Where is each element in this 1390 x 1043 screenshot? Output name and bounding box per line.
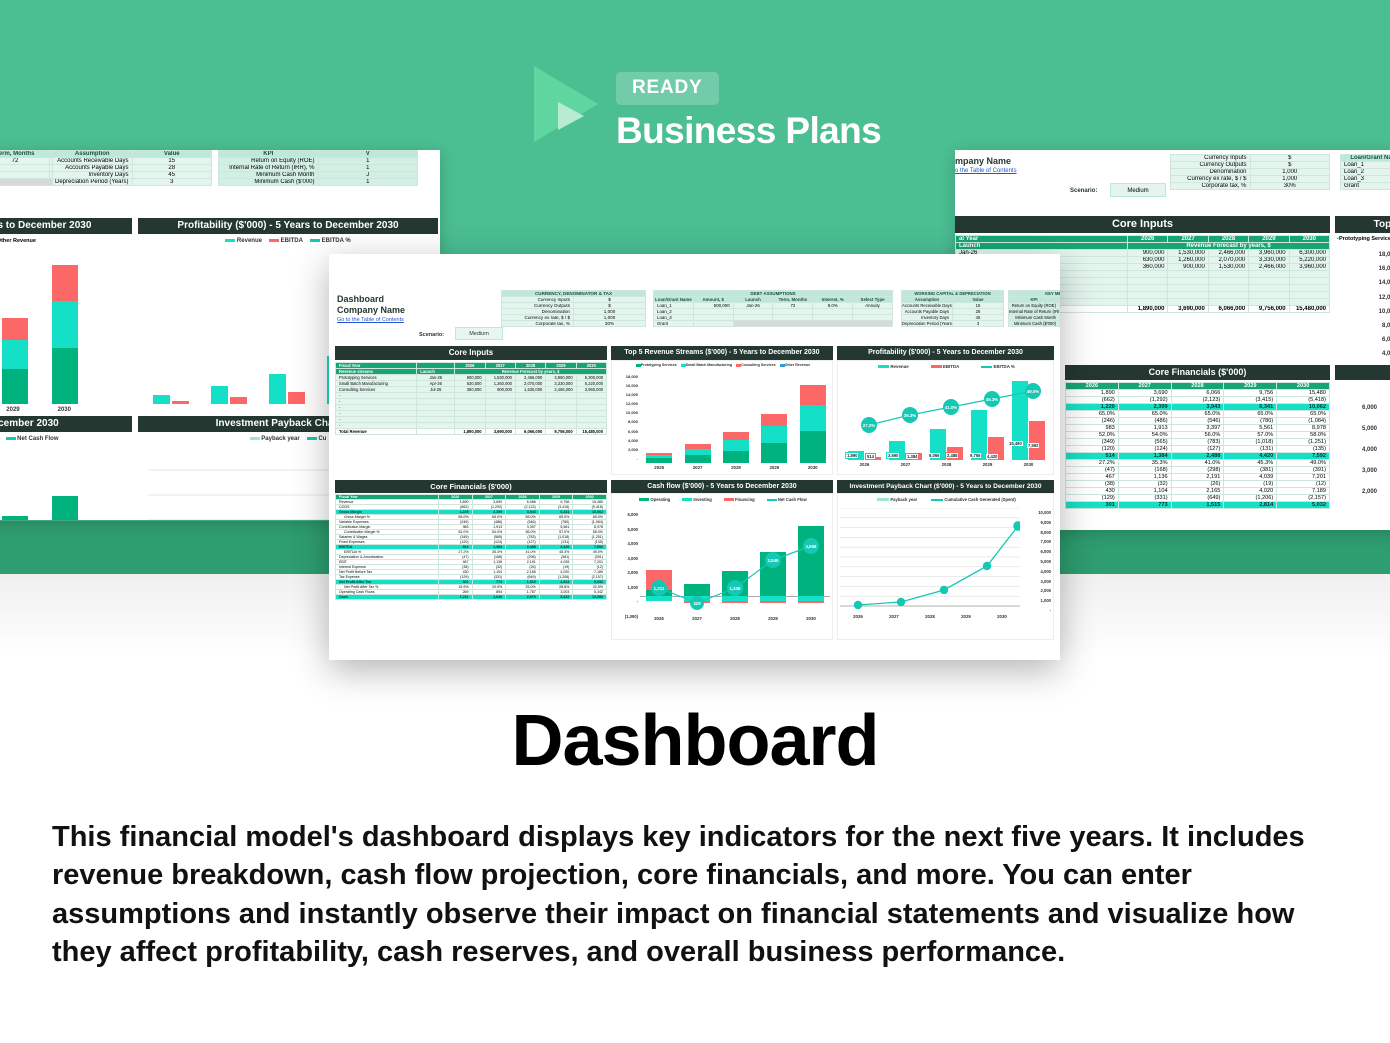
bar-2030: [800, 372, 826, 463]
legend-investing: Investing: [682, 497, 712, 502]
scenario-label: Scenario:: [419, 332, 444, 338]
x-axis-revenue-streams: 2026 2027 2028 2029 2030: [640, 465, 832, 470]
ready-badge: READY: [616, 72, 719, 105]
scenario-select[interactable]: Medium: [455, 327, 503, 340]
legend-payback-year: Payback year: [877, 497, 917, 502]
chart-investment-payback[interactable]: Payback year Cumulative Cash Generated (…: [837, 493, 1054, 640]
table-row: Prototyping ServicesJan-26900,0001,530,0…: [336, 375, 607, 381]
legend-prototyping: Prototyping Services: [636, 363, 677, 367]
table-row: Small Batch ManufacturingApr-26630,0001,…: [336, 381, 607, 387]
bar-2028: [723, 372, 749, 463]
cumulative-cash-line: [840, 508, 1020, 618]
chart-title-profitability: Profitability ($'000) - 5 Years to Decem…: [837, 346, 1054, 360]
key-metrics-panel: KEY METRICS KPIValue Return on Equity (R…: [1008, 290, 1060, 327]
y-axis-payback: 10,000 9,000 8,000 7,000 6,000 5,000 4,0…: [1021, 508, 1051, 616]
dashboard-sheet[interactable]: Dashboard Company Name Go to the Table o…: [329, 254, 1060, 660]
page-title: Dashboard: [0, 700, 1390, 782]
table-row: Grant: [654, 321, 893, 327]
chart-title-cash-flow: Cash flow ($'000) - 5 Years to December …: [611, 480, 833, 493]
chart-title-revenue-streams: Top 5 Revenue Streams ($'000) - 5 Years …: [611, 346, 833, 360]
svg-text:1,211: 1,211: [654, 586, 665, 591]
table-row: Minimum Cash ($'000)1,155.6: [1009, 321, 1061, 327]
bar-2029: [761, 372, 787, 463]
core-financials-title: Core Financials ($'000): [335, 480, 607, 493]
svg-text:49.0%: 49.0%: [1027, 389, 1040, 394]
table-row: Return on Equity (ROE)13.84: [1009, 303, 1061, 309]
svg-text:4,658: 4,658: [806, 544, 818, 549]
chart-title-payback: Investment Payback Chart ($'000) - 5 Yea…: [837, 480, 1054, 493]
page-caption: This financial model's dashboard display…: [52, 818, 1342, 971]
chart-title-revenue-streams-left: Top 5 Revenue Streams ($'000) - 5 Years …: [0, 218, 132, 234]
legend-other: Other Revenue: [780, 363, 811, 367]
svg-text:429: 429: [693, 601, 701, 606]
x-axis-cash-flow: 2026 2027 2028 2029 2030: [640, 616, 830, 621]
currency-panel: CURRENCY, DENOMINATOR & TAX Currency Inp…: [501, 290, 646, 327]
chart-title-profitability-left: Profitability ($'000) - 5 Years to Decem…: [138, 218, 438, 234]
bar-2027: [685, 372, 711, 463]
brand-lockup: READY Business Plans: [528, 58, 928, 150]
legend-net-cash-flow: Net Cash Flow: [767, 497, 807, 502]
svg-text:3,545: 3,545: [768, 558, 780, 563]
brand-title: Business Plans: [616, 110, 881, 152]
bar-2026: [646, 372, 672, 463]
x-axis-payback: 2026 2027 2028 2029 2030: [840, 614, 1020, 619]
y-axis-revenue-streams: 18,000 16,000 14,000 12,000 10,000 8,000…: [612, 372, 638, 463]
core-financials-table: Fiscal Year 2026 2027 2028 2029 2030 Rev…: [335, 494, 607, 600]
poster-page: READY Business Plans Amount, $LaunchTerm…: [0, 0, 1390, 1043]
legend-financing: Financing: [724, 497, 755, 502]
company-name: Company Name: [337, 305, 405, 315]
chart-bars-revenue-streams-left: [0, 254, 90, 404]
svg-text:41.0%: 41.0%: [945, 405, 958, 410]
table-of-contents-link[interactable]: Go to the Table of Contents: [337, 317, 404, 323]
legend-cumulative-cash: Cumulative Cash Generated (Spent): [931, 497, 1016, 502]
net-cash-flow-line: 1,211 429 1,336 3,545 4,658: [640, 508, 830, 610]
table-row: Internal Rate of Return (IRR), %16.2%: [1009, 309, 1061, 315]
play-triangle-logo-icon: [528, 62, 604, 146]
working-capital-panel: WORKING CAPITAL & DEPRECIATION Assumptio…: [901, 290, 1004, 327]
sheet-title: Dashboard: [337, 294, 384, 304]
chart-cash-flow[interactable]: Operating Investing Financing Net Cash F…: [611, 493, 833, 640]
legend-consulting: Consulting Services: [736, 363, 776, 367]
y-axis-cash-flow: 6,000 5,000 4,000 3,000 2,000 1,000 - (1…: [612, 508, 638, 624]
legend-ebitda-pct: EBITDA %: [981, 364, 1015, 369]
core-inputs-title: Core Inputs: [335, 346, 607, 360]
legend-small-batch: Small Batch Manufacturing: [681, 363, 732, 367]
chart-profitability[interactable]: Revenue EBITDA EBITDA % 1,890 514 3,690: [837, 360, 1054, 475]
table-row: Cash1,2111,6402,9765,42210,080: [336, 595, 607, 600]
svg-text:27.2%: 27.2%: [863, 423, 876, 428]
chart-revenue-streams[interactable]: Prototyping Services Small Batch Manufac…: [611, 360, 833, 475]
chart-title-cashflow-left: Cash flow ($'000) - 5 Years to December …: [0, 416, 132, 432]
legend-operating: Operating: [639, 497, 670, 502]
core-inputs-table: Fiscal Year 2026 2027 2028 2029 2030 Rev…: [335, 362, 607, 435]
table-row: Depreciation Period (Years)3: [902, 321, 1004, 327]
svg-text:35.3%: 35.3%: [904, 413, 917, 418]
x-axis-profitability: 2026 2027 2028 2029 2030: [844, 462, 1049, 467]
legend-revenue: Revenue: [878, 364, 909, 369]
debt-assumptions-panel: DEBT ASSUMPTIONS Loan/Grant Name Amount,…: [653, 290, 893, 327]
svg-text:45.3%: 45.3%: [986, 397, 999, 402]
ebitda-percent-line: 27.2% 35.3% 41.0% 45.3% 49.0%: [844, 377, 1049, 460]
table-row: Minimum Cash MonthJul-26: [1009, 315, 1061, 321]
svg-text:1,336: 1,336: [730, 586, 742, 591]
legend-ebitda: EBITDA: [931, 364, 960, 369]
table-row: Corporate tax, %30%: [502, 321, 646, 327]
core-inputs-total-row: Total Revenue 1,890,000 3,690,000 6,066,…: [336, 429, 607, 435]
